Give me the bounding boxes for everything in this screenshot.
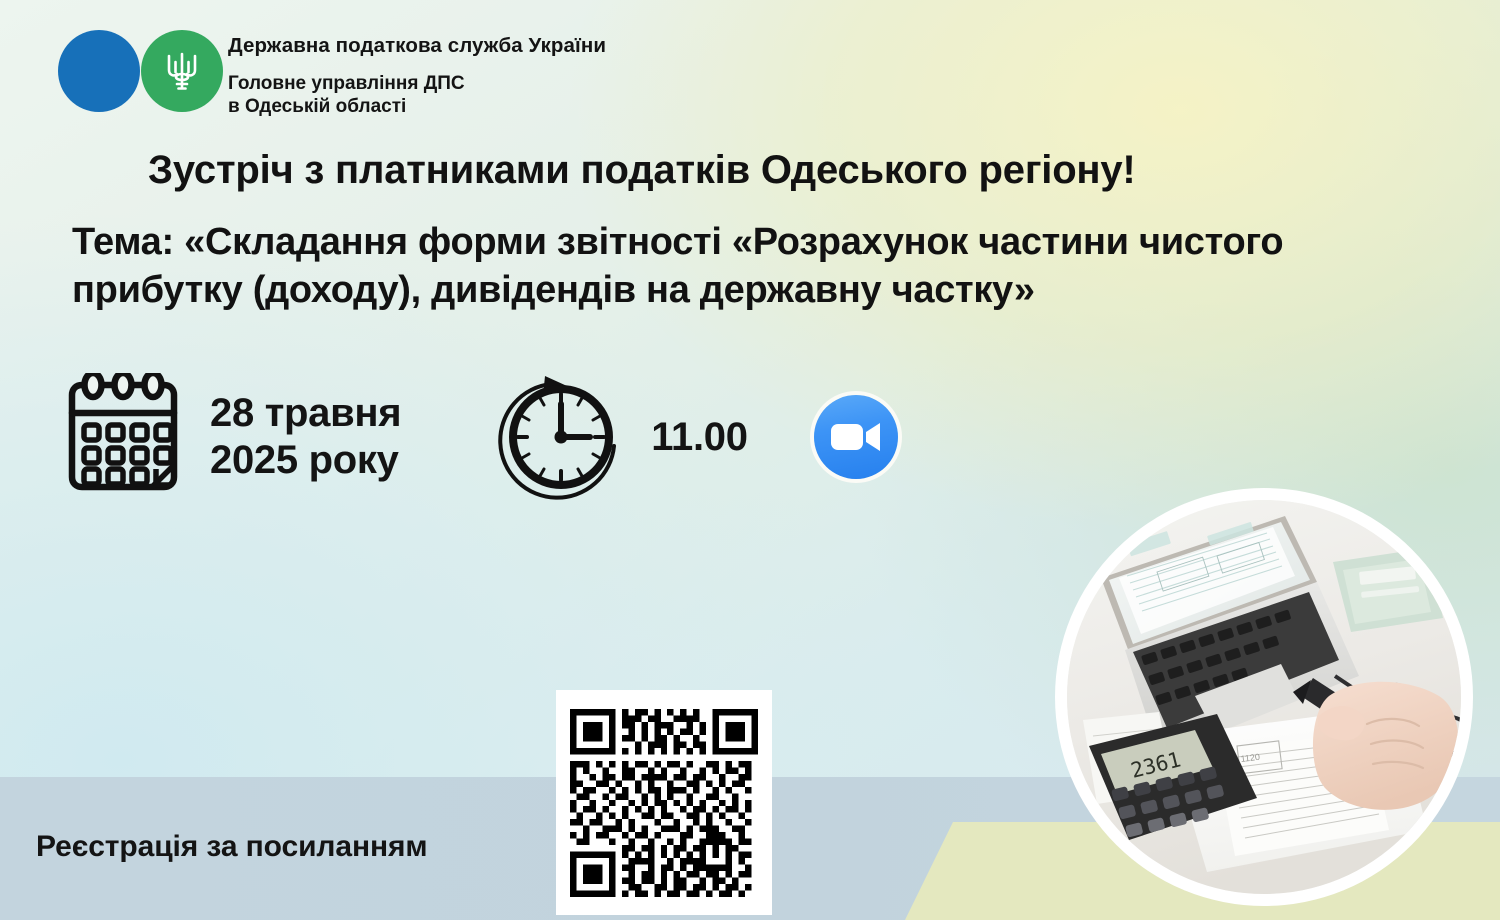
event-details-row: 28 травня 2025 року — [60, 372, 898, 502]
logo-circle-blue-icon — [58, 30, 140, 112]
department-line-2: в Одеській області — [228, 96, 406, 117]
event-subject: Тема: «Складання форми звітності «Розрах… — [72, 218, 1442, 315]
registration-label: Реєстрація за посиланням — [36, 830, 428, 864]
zoom-video-icon[interactable] — [814, 395, 898, 479]
qr-code-matrix — [570, 709, 758, 897]
trident-icon — [162, 48, 202, 94]
logo-marks — [58, 28, 210, 112]
event-date-line-2: 2025 року — [210, 438, 399, 482]
photo-circle-frame: 1120 2361 — [1055, 488, 1473, 906]
poster-canvas: Державна податкова служба України Головн… — [0, 0, 1500, 920]
photo-illustration: 1120 2361 — [1067, 500, 1461, 894]
calendar-icon — [60, 373, 186, 501]
accounting-desk-photo: 1120 2361 — [1067, 500, 1461, 894]
clock-icon — [489, 372, 629, 502]
event-date-line-1: 28 травня — [210, 391, 401, 435]
department-line-1: Головне управління ДПС — [228, 73, 465, 94]
logo-circle-green-icon — [141, 30, 223, 112]
organization-logo: Державна податкова служба України Головн… — [58, 28, 606, 118]
event-time: 11.00 — [651, 415, 747, 460]
event-date: 28 травня 2025 року — [210, 390, 401, 484]
organization-name: Державна податкова служба України — [228, 33, 606, 59]
page-title: Зустріч з платниками податків Одеського … — [148, 148, 1388, 193]
logo-text-block: Державна податкова служба України Головн… — [228, 28, 606, 118]
qr-code[interactable] — [556, 690, 772, 915]
video-camera-glyph — [830, 419, 882, 455]
department-name: Головне управління ДПС в Одеській област… — [228, 72, 606, 118]
